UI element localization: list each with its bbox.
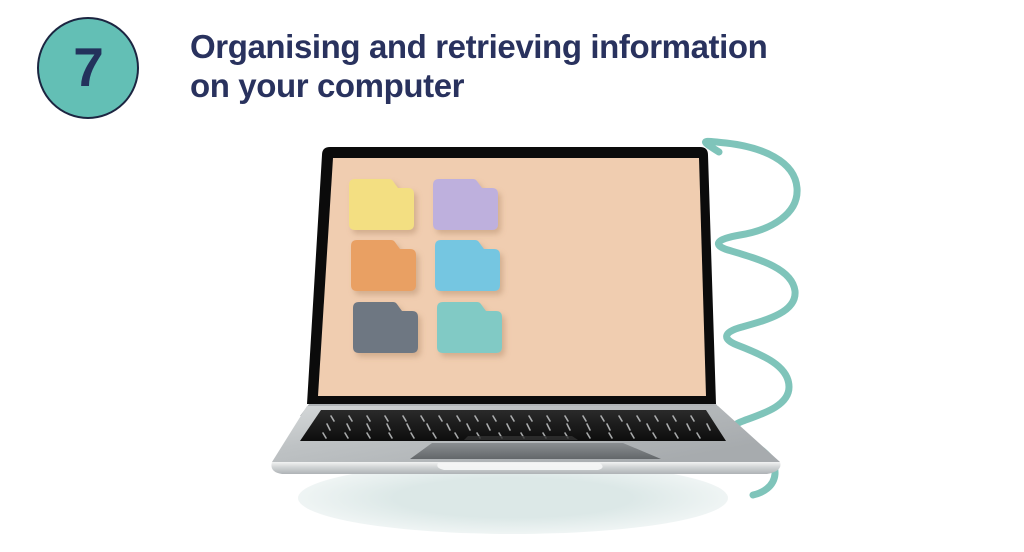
laptop-trackpad[interactable]: [410, 443, 661, 459]
laptop-front-notch: [437, 463, 602, 470]
page-root: 7 Organising and retrieving information …: [0, 0, 1024, 552]
laptop-base: [271, 404, 780, 474]
laptop-illustration: [0, 0, 1024, 552]
